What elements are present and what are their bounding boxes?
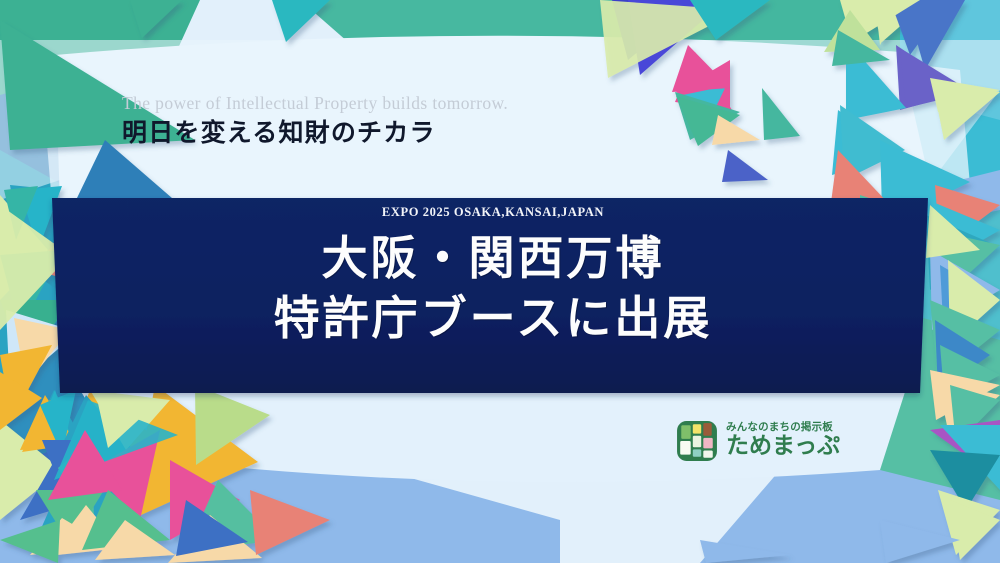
triangle	[880, 520, 960, 563]
logo-tile	[693, 449, 701, 456]
tagline-block: The power of Intellectual Property build…	[122, 92, 508, 149]
logo-tile	[681, 425, 690, 439]
headline-line-1: 大阪・関西万博	[60, 235, 926, 281]
triangle	[250, 490, 330, 555]
triangle	[700, 540, 790, 563]
tamemap-logo-text: みんなのまちの掲示板 ためまっぷ	[726, 422, 840, 460]
logo-tile	[703, 423, 711, 436]
logo-name: ためまっぷ	[726, 434, 840, 460]
triangle	[272, 0, 330, 42]
tagline-japanese: 明日を変える知財のチカラ	[122, 117, 508, 150]
logo-tile	[680, 441, 691, 455]
headline-line-2: 特許庁ブースに出展	[60, 295, 926, 341]
promo-banner-image: The power of Intellectual Property build…	[0, 0, 1000, 563]
logo-tile	[703, 438, 712, 449]
logo-tile	[693, 436, 701, 448]
tamemap-logo-icon	[676, 420, 718, 462]
logo-tile	[693, 424, 701, 433]
tamemap-logo[interactable]: みんなのまちの掲示板 ためまっぷ	[676, 420, 840, 462]
triangle	[0, 520, 60, 563]
tagline-english: The power of Intellectual Property build…	[122, 92, 508, 116]
banner-text-block: EXPO 2025 OSAKA,KANSAI,JAPAN 大阪・関西万博 特許庁…	[60, 205, 926, 341]
triangle	[722, 150, 768, 182]
logo-subtitle: みんなのまちの掲示板	[726, 422, 840, 434]
expo-eyebrow: EXPO 2025 OSAKA,KANSAI,JAPAN	[60, 205, 926, 220]
triangle	[130, 0, 182, 38]
triangle	[762, 88, 800, 140]
triangle	[712, 115, 760, 145]
logo-tile	[703, 450, 712, 457]
